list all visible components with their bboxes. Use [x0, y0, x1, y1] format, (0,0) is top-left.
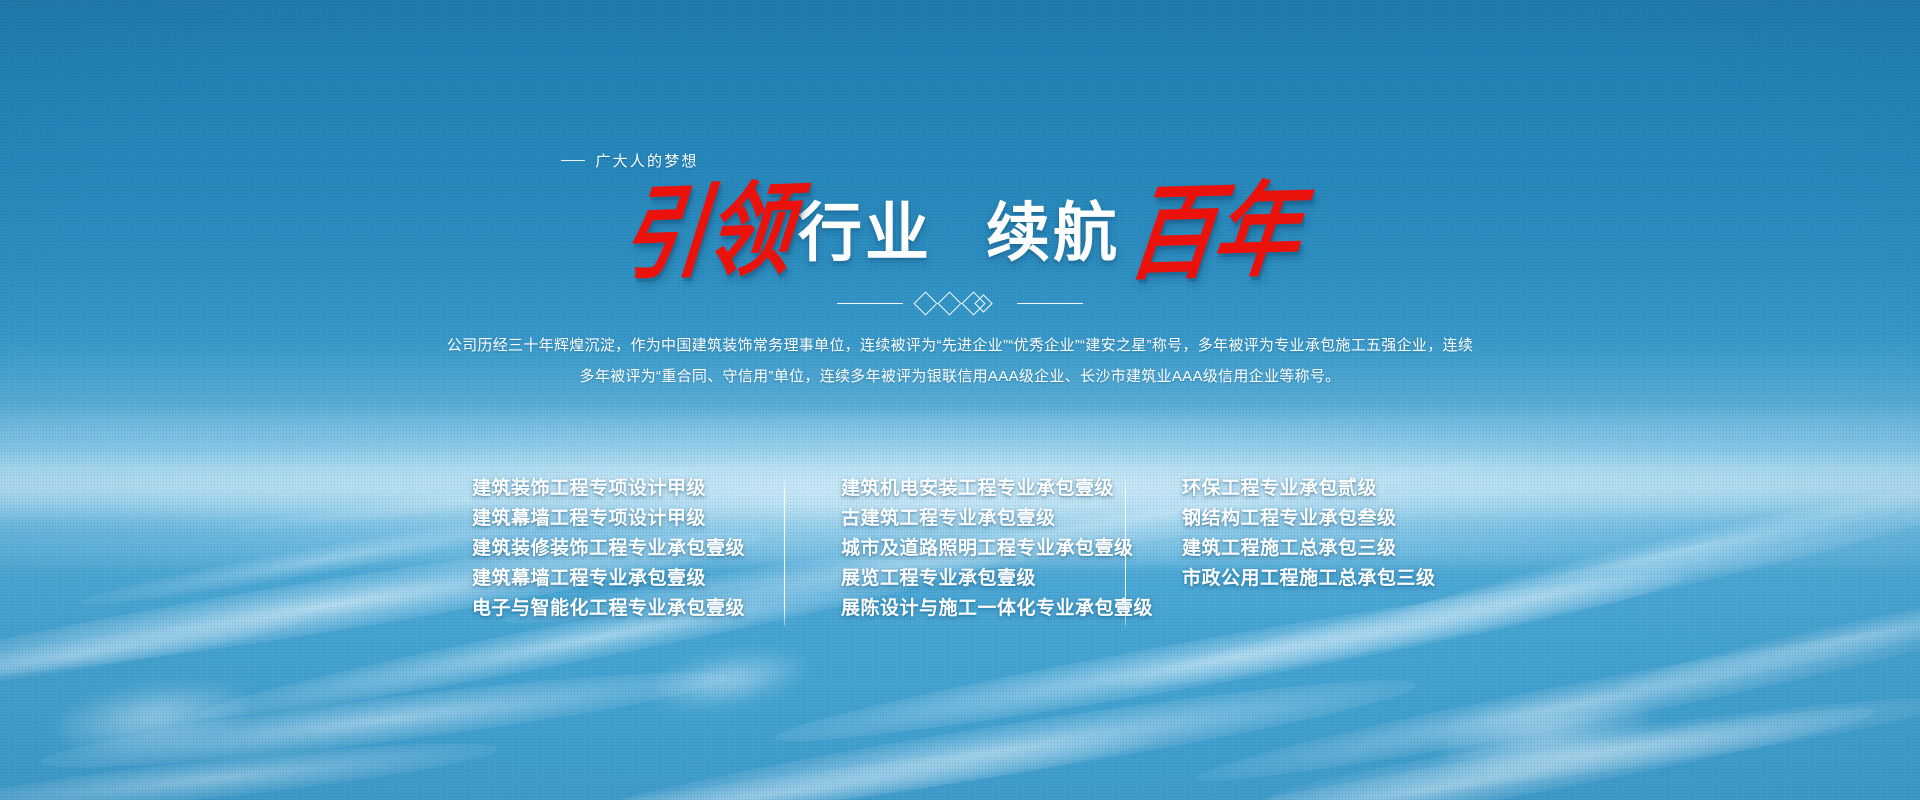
qualification-column-1: 建筑装饰工程专项设计甲级 建筑幕墙工程专项设计甲级 建筑装修装饰工程专业承包壹级… — [464, 474, 784, 624]
qualification-item: 电子与智能化工程专业承包壹级 — [472, 594, 784, 624]
qualification-item: 古建筑工程专业承包壹级 — [841, 504, 1125, 534]
qualification-item: 建筑幕墙工程专项设计甲级 — [472, 504, 784, 534]
qualification-item: 建筑装修装饰工程专业承包壹级 — [472, 534, 784, 564]
headline-white-word-2: 续航 — [986, 201, 1120, 265]
qualification-item: 建筑工程施工总承包三级 — [1182, 534, 1456, 564]
qualification-column-2: 建筑机电安装工程专业承包壹级 古建筑工程专业承包壹级 城市及道路照明工程专业承包… — [785, 474, 1125, 624]
qualification-item: 城市及道路照明工程专业承包壹级 — [841, 534, 1125, 564]
description-line-2: 多年被评为“重合同、守信用”单位，连续多年被评为银联信用AAA级企业、长沙市建筑… — [430, 361, 1490, 392]
kicker-label: 广大人的梦想 — [595, 150, 698, 171]
hero-content: 广大人的梦想 引领 行业 续航 百年 公司历经三十年辉煌沉淀，作为中国建筑装饰常… — [0, 0, 1920, 800]
qualification-item: 展览工程专业承包壹级 — [841, 564, 1125, 594]
company-description: 公司历经三十年辉煌沉淀，作为中国建筑装饰常务理事单位，连续被评为“先进企业”“优… — [430, 330, 1490, 392]
qualification-item: 建筑装饰工程专项设计甲级 — [472, 474, 784, 504]
qualification-item: 展陈设计与施工一体化专业承包壹级 — [841, 594, 1125, 624]
description-line-1: 公司历经三十年辉煌沉淀，作为中国建筑装饰常务理事单位，连续被评为“先进企业”“优… — [430, 330, 1490, 361]
headline-red-word-2: 百年 — [1119, 179, 1309, 287]
triple-diamond-divider-icon — [0, 290, 1920, 316]
headline-white-word-1: 行业 — [798, 201, 932, 265]
headline: 引领 行业 续航 百年 — [0, 178, 1920, 288]
kicker-row: 广大人的梦想 — [0, 148, 1920, 171]
qualification-item: 建筑幕墙工程专业承包壹级 — [472, 564, 784, 594]
divider-line-left — [837, 303, 903, 304]
kicker-dash-icon — [561, 160, 585, 161]
headline-red-word-1: 引领 — [612, 179, 799, 287]
qualification-columns: 建筑装饰工程专项设计甲级 建筑幕墙工程专项设计甲级 建筑装修装饰工程专业承包壹级… — [0, 474, 1920, 626]
diamond-cluster-icon — [914, 290, 1006, 316]
qualification-item: 建筑机电安装工程专业承包壹级 — [841, 474, 1125, 504]
qualification-item: 市政公用工程施工总承包三级 — [1182, 564, 1456, 594]
qualification-item: 钢结构工程专业承包叁级 — [1182, 504, 1456, 534]
qualification-item: 环保工程专业承包贰级 — [1182, 474, 1456, 504]
qualification-column-3: 环保工程专业承包贰级 钢结构工程专业承包叁级 建筑工程施工总承包三级 市政公用工… — [1126, 474, 1456, 594]
hero-banner: 广大人的梦想 引领 行业 续航 百年 公司历经三十年辉煌沉淀，作为中国建筑装饰常… — [0, 0, 1920, 800]
divider-line-right — [1017, 303, 1083, 304]
